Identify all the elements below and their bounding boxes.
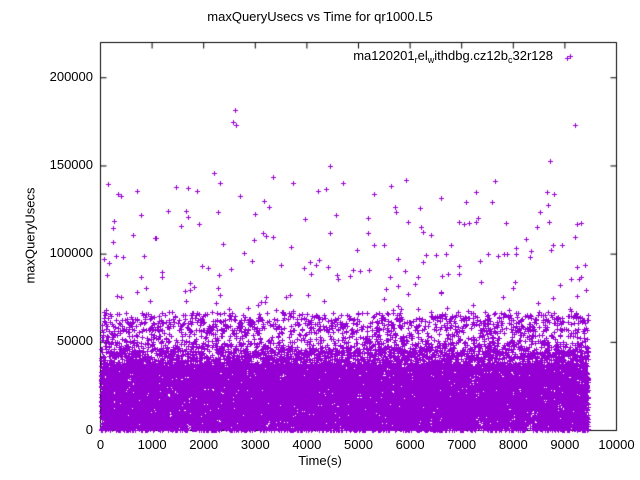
legend-text: ithdbg.cz12b <box>434 48 508 63</box>
x-axis-label: Time(s) <box>0 453 640 468</box>
legend-text: 32r128 <box>513 48 553 63</box>
chart-page: maxQueryUsecs vs Time for qr1000.L5 ma12… <box>0 0 640 480</box>
legend-series-label: ma120201relwithdbg.cz12bc32r128 <box>0 48 553 65</box>
page-title: maxQueryUsecs vs Time for qr1000.L5 <box>0 9 640 24</box>
legend-text: el <box>418 48 428 63</box>
scatter-plot-canvas <box>0 0 640 480</box>
y-axis-label: maxQueryUsecs <box>23 136 38 336</box>
legend-text: ma120201 <box>353 48 414 63</box>
